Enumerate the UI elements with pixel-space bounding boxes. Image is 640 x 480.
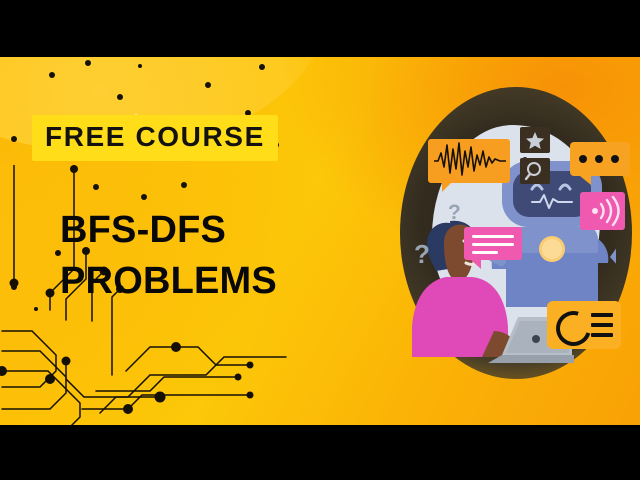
- decor-dot: [117, 94, 123, 100]
- ai-chatbot-illustration: ? ?: [392, 79, 640, 399]
- free-course-label: FREE COURSE: [45, 123, 265, 151]
- letterbox-bar-bottom: [0, 425, 640, 480]
- waveform-speech-bubble: [428, 139, 510, 183]
- decor-dot: [205, 82, 211, 88]
- star-icon-tile: [520, 127, 550, 153]
- title-line-2: PROBLEMS: [60, 256, 277, 307]
- thumbnail-canvas: FREE COURSE BFS-DFS PROBLEMS: [0, 57, 640, 425]
- typing-dots-bubble: [570, 142, 630, 176]
- decor-dot: [259, 64, 265, 70]
- progress-card: [547, 301, 621, 349]
- letterbox-bar-top: [0, 0, 640, 57]
- free-course-badge: FREE COURSE: [32, 115, 278, 161]
- title-line-1: BFS-DFS: [60, 205, 277, 256]
- page-title: BFS-DFS PROBLEMS: [60, 205, 277, 307]
- search-icon-tile: [520, 158, 550, 184]
- decor-dot: [85, 60, 91, 66]
- message-lines-bubble: [464, 227, 522, 260]
- decor-dot: [138, 64, 142, 68]
- progress-ring-icon: [550, 305, 597, 352]
- signal-broadcast-card: [580, 192, 625, 230]
- question-mark-icon-2: ?: [414, 239, 430, 270]
- video-thumbnail: FREE COURSE BFS-DFS PROBLEMS: [0, 0, 640, 480]
- question-mark-icon-1: ?: [448, 201, 461, 225]
- decor-dot: [11, 136, 17, 142]
- decor-dot: [49, 72, 55, 78]
